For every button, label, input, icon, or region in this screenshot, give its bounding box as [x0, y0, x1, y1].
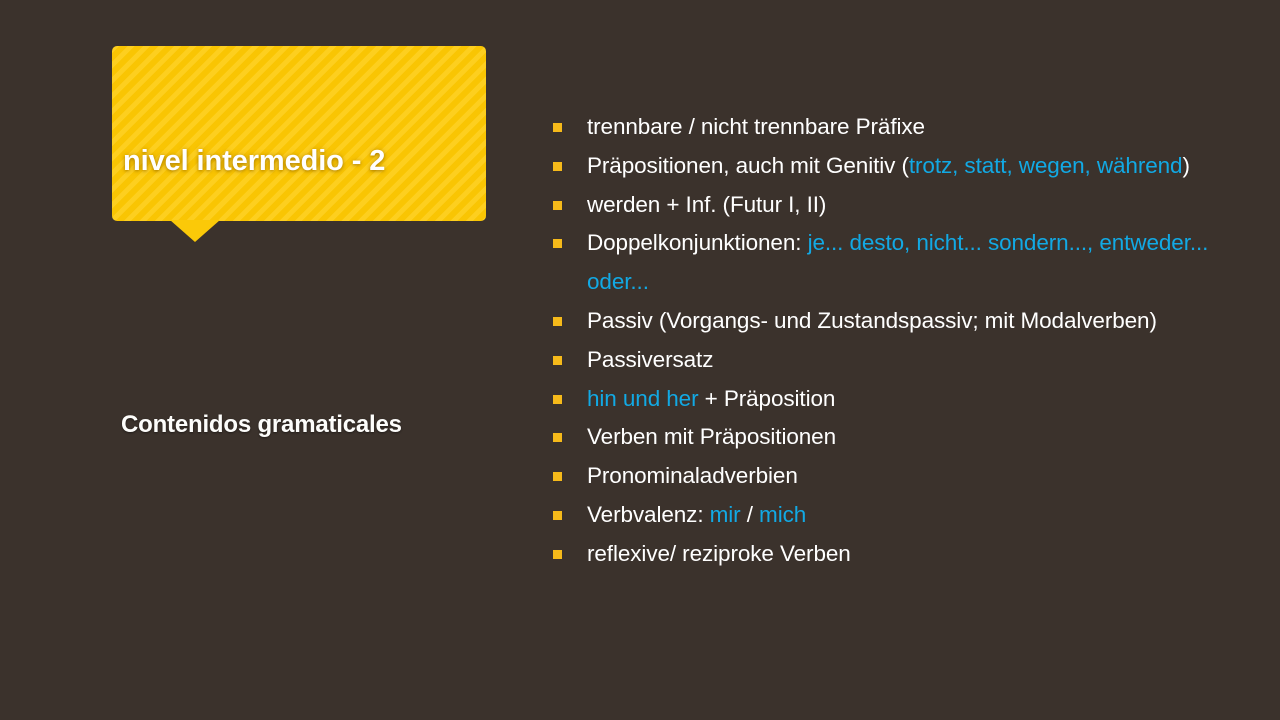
section-subtitle: Contenidos gramaticales: [121, 411, 402, 439]
list-item-text: reflexive/ reziproke Verben: [587, 541, 851, 566]
list-item-hin-und-her: hin und her + Präposition: [553, 380, 1253, 419]
speech-bubble: nivel intermedio - 2: [112, 46, 486, 243]
highlighted-term: mich: [759, 502, 806, 527]
list-item-text: trennbare / nicht trennbare Präfixe: [587, 114, 925, 139]
list-item-werden-infinitiv: werden + Inf. (Futur I, II): [553, 186, 1253, 225]
list-item-verbvalenz: Verbvalenz: mir / mich: [553, 496, 1253, 535]
highlighted-term: mir: [710, 502, 741, 527]
list-item-text: Verbvalenz:: [587, 502, 710, 527]
list-item-text: ): [1182, 153, 1189, 178]
list-item-praepositionen-genitiv: Präpositionen, auch mit Genitiv (trotz, …: [553, 147, 1253, 186]
slide-title: nivel intermedio - 2: [123, 145, 483, 178]
list-item-text: + Präposition: [699, 386, 836, 411]
list-item-verben-mit-praepositionen: Verben mit Präpositionen: [553, 418, 1253, 457]
speech-bubble-tail: [170, 220, 220, 242]
list-item-text: Passiversatz: [587, 347, 713, 372]
list-item-text: Passiv (Vorgangs- und Zustandspassiv; mi…: [587, 308, 1157, 333]
list-item-text: werden + Inf. (Futur I, II): [587, 192, 826, 217]
grammar-contents-list: trennbare / nicht trennbare PräfixePräpo…: [553, 108, 1253, 574]
list-item-doppelkonjunktionen: Doppelkonjunktionen: je... desto, nicht.…: [553, 224, 1253, 302]
list-item-text: Verben mit Präpositionen: [587, 424, 836, 449]
highlighted-term: trotz, statt, wegen, während: [909, 153, 1183, 178]
list-item-passiv: Passiv (Vorgangs- und Zustandspassiv; mi…: [553, 302, 1253, 341]
list-item-pronominaladverbien: Pronominaladverbien: [553, 457, 1253, 496]
list-item-praefixe: trennbare / nicht trennbare Präfixe: [553, 108, 1253, 147]
list-item-text: Präpositionen, auch mit Genitiv (: [587, 153, 909, 178]
list-item-text: Doppelkonjunktionen:: [587, 230, 808, 255]
list-item-text: Pronominaladverbien: [587, 463, 798, 488]
list-item-text: /: [741, 502, 759, 527]
list-item-passiversatz: Passiversatz: [553, 341, 1253, 380]
highlighted-term: hin und her: [587, 386, 699, 411]
list-item-reflexive-reziproke: reflexive/ reziproke Verben: [553, 535, 1253, 574]
speech-bubble-body: [112, 46, 486, 221]
slide-canvas: nivel intermedio - 2 Contenidos gramatic…: [0, 0, 1280, 720]
